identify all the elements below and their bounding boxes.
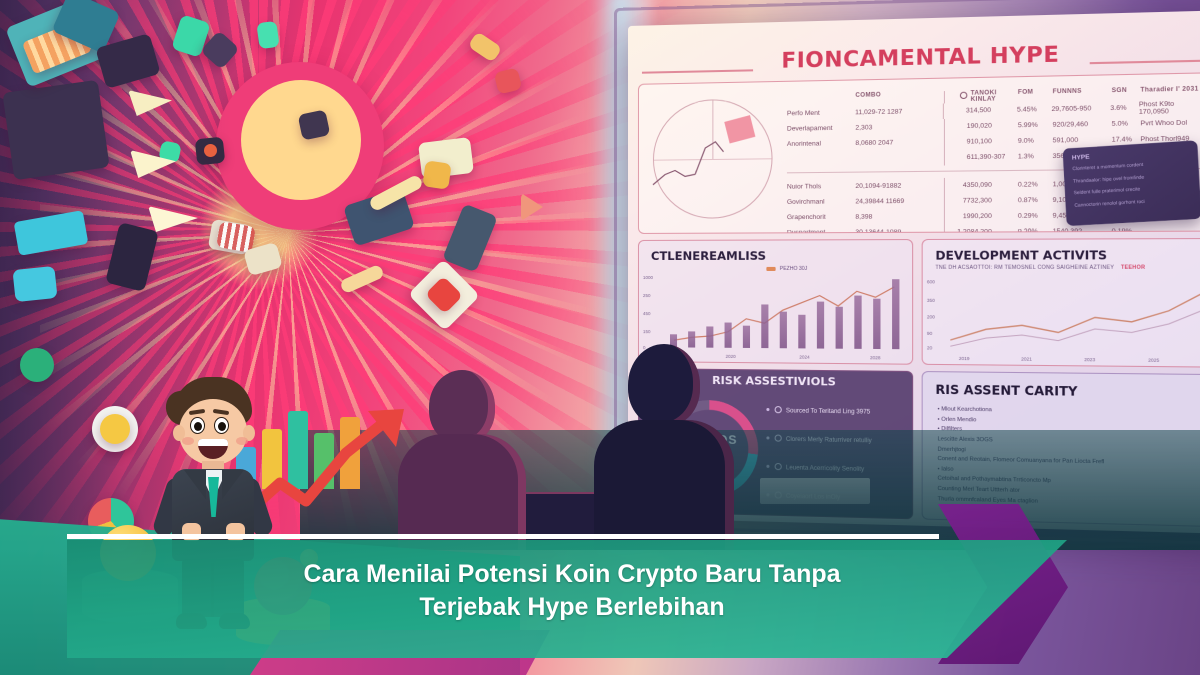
triangle-icon [521, 193, 543, 221]
mascot-teeth [198, 439, 228, 446]
silhouette-head [628, 344, 700, 426]
legend-label: PEZHO 30J [780, 266, 808, 272]
explosion-core [241, 80, 361, 200]
col-tanoki: TANOKI KINLAY [971, 90, 1018, 103]
col-combo: COMBO [855, 91, 935, 105]
line-chart-plot [950, 281, 1200, 351]
x-tick: 2025 [1148, 358, 1159, 363]
line-chart-title: DEVELOPMENT ACTIVITS [935, 248, 1107, 263]
clarity-panel-heading: RIS ASSENT CARITY [935, 383, 1077, 399]
y-tick: 350 [927, 298, 935, 303]
risk-bullet-label: Sourced To Teritand Ling 3975 [786, 408, 870, 415]
silhouette-head [429, 370, 495, 444]
y-tick: 20 [927, 345, 932, 350]
check-circle-icon [775, 406, 782, 413]
sticker-icon [256, 21, 279, 50]
bar-chart-bar [743, 325, 750, 348]
bar-chart-bar [780, 312, 787, 348]
list-item: Sourced To Teritand Ling 3975 [775, 405, 904, 417]
silhouette-body [594, 420, 734, 550]
bar-chart-bar [854, 296, 861, 349]
bar-chart-bar [873, 299, 880, 349]
col-sgn: SGN [1112, 87, 1141, 100]
line-chart-svg [950, 281, 1200, 351]
silhouette-body [398, 434, 526, 550]
y-tick: 250 [643, 293, 651, 298]
line-chart-subtitle: TNE DH ACSAOTTOI: RM TEMOSNEL CONG SAIGH… [935, 265, 1145, 271]
x-tick: 2024 [799, 354, 809, 359]
page-title: Cara Menilai Potensi Koin Crypto Baru Ta… [247, 558, 897, 624]
app-icon-a [422, 160, 451, 189]
clock-icon [960, 92, 967, 99]
bar-chart-bar [798, 315, 805, 348]
metrics-table-panel: COMBO TANOKI KINLAY FOM FUNNNS SGN Thara… [638, 72, 1200, 234]
x-tick: 2023 [1084, 357, 1095, 362]
bar-chart-bar [761, 305, 768, 349]
clock-icon [100, 414, 130, 444]
y-tick: 600 [927, 279, 935, 284]
x-tick: 2028 [870, 355, 881, 360]
mascot-cheek [182, 437, 194, 445]
col-funnns: FUNNNS [1053, 88, 1112, 102]
dollar-icon [20, 348, 54, 382]
col-tharadier: Tharadier I' 2031 [1140, 86, 1198, 100]
bar-chart-plot [665, 275, 904, 349]
bar-chart-bar [892, 279, 899, 349]
audience-silhouette-left [398, 370, 526, 550]
banner-top-rule [67, 534, 939, 539]
y-tick: 200 [927, 314, 935, 319]
bullet-dot [766, 408, 769, 411]
record-dot-icon [204, 144, 217, 157]
line-chart-panel: DEVELOPMENT ACTIVITS TNE DH ACSAOTTOI: R… [922, 238, 1200, 368]
bar-chart-bar [817, 302, 824, 349]
mascot-pupil [218, 422, 226, 431]
mascot-pupil [194, 422, 202, 431]
page-title-line-2: Terjebak Hype Berlebihan [247, 591, 897, 624]
bar-chart-title: CTLENEREAMLISS [651, 249, 766, 263]
mascot-cheek [236, 437, 248, 445]
x-tick: 2019 [959, 356, 970, 361]
title-banner: Cara Menilai Potensi Koin Crypto Baru Ta… [67, 540, 1067, 658]
sparkline-chart [651, 139, 756, 193]
audience-silhouette-right [594, 344, 734, 550]
y-tick: 90 [927, 331, 932, 336]
col-fom: FOM [1018, 89, 1053, 102]
hype-sticky-note: HYPE Clorinteret a momentum cordent Thra… [1063, 140, 1200, 226]
line-chart-subtitle-highlight: TEEHOR [1121, 265, 1145, 271]
play-button-icon [12, 266, 57, 302]
table-row: Duspartment 30,13644-1089 1,20 84,200 9.… [787, 223, 1200, 234]
screenshot-stage: FIONCAMENTAL HYPE COMBO TANOKI KINLAY FO… [0, 0, 1200, 675]
x-tick: 2021 [1021, 356, 1032, 361]
legend-swatch [766, 267, 775, 271]
page-title-line-1: Cara Menilai Potensi Koin Crypto Baru Ta… [247, 558, 897, 591]
y-tick: 450 [643, 311, 651, 316]
monitor-icon [2, 80, 109, 181]
y-tick: 1000 [643, 275, 653, 280]
board-title: FIONCAMENTAL HYPE [628, 38, 1200, 76]
line-chart-subtitle-text: TNE DH ACSAOTTOI: RM TEMOSNEL CONG SAIGH… [935, 265, 1114, 271]
bar-chart-bar [836, 306, 843, 348]
y-tick: 150 [643, 329, 651, 334]
